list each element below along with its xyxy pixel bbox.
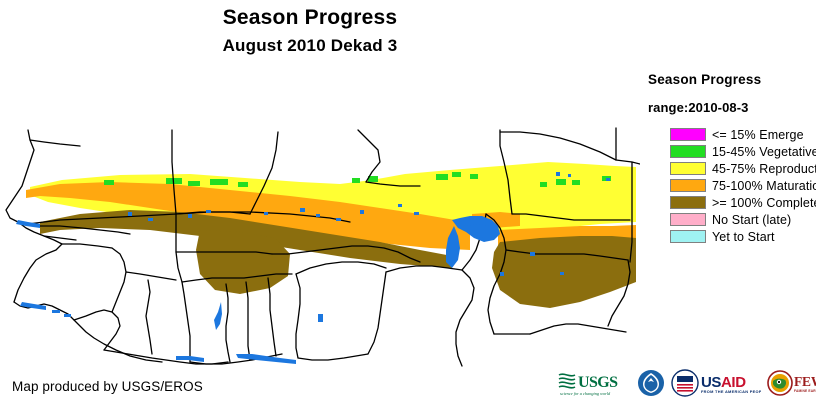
usgs-logo-icon: USGS science for a changing world: [557, 369, 631, 397]
legend-label-vegetative: 15-45% Vegetative: [712, 145, 816, 159]
map-graphic: [0, 62, 640, 372]
legend-swatch-reproductive: [670, 162, 706, 175]
fews-net-logo-icon: FEWS NET FAMINE EARLY WARNING SYSTEMS NE…: [767, 369, 816, 397]
usaid-logo-icon: US AID FROM THE AMERICAN PEOPLE: [671, 369, 761, 397]
legend-item-maturation[interactable]: 75-100% Maturation: [670, 177, 816, 194]
legend-item-yet-to-start[interactable]: Yet to Start: [670, 228, 816, 245]
page-title: Season Progress: [0, 6, 620, 30]
legend-item-emerge[interactable]: <= 15% Emerge: [670, 126, 816, 143]
legend-item-no-start[interactable]: No Start (late): [670, 211, 816, 228]
map-canvas[interactable]: [0, 62, 640, 372]
legend-item-list: <= 15% Emerge 15-45% Vegetative 45-75% R…: [670, 126, 816, 245]
fews-net-logo: FEWS NET FAMINE EARLY WARNING SYSTEMS NE…: [767, 368, 816, 398]
svg-text:FEWS NET: FEWS NET: [794, 374, 816, 389]
legend-range: range:2010-08-3: [648, 100, 749, 115]
svg-text:FROM THE AMERICAN PEOPLE: FROM THE AMERICAN PEOPLE: [701, 389, 761, 394]
usaid-logo: US AID FROM THE AMERICAN PEOPLE: [671, 368, 761, 398]
map-page: Season Progress August 2010 Dekad 3: [0, 0, 816, 403]
legend-item-reproductive[interactable]: 45-75% Reproductive: [670, 160, 816, 177]
legend-label-emerge: <= 15% Emerge: [712, 128, 804, 142]
legend-title: Season Progress: [648, 72, 761, 87]
map-credit: Map produced by USGS/EROS: [12, 379, 203, 394]
legend-swatch-no-start: [670, 213, 706, 226]
legend-swatch-complete: [670, 196, 706, 209]
noaa-logo: [637, 368, 665, 398]
legend-label-maturation: 75-100% Maturation: [712, 179, 816, 193]
svg-text:science for a changing world: science for a changing world: [560, 391, 611, 396]
map-legend: Season Progress range:2010-08-3 <= 15% E…: [648, 72, 816, 262]
usgs-logo: USGS science for a changing world: [557, 368, 631, 398]
legend-label-no-start: No Start (late): [712, 213, 791, 227]
noaa-logo-icon: [637, 369, 665, 397]
page-subtitle: August 2010 Dekad 3: [0, 36, 620, 56]
svg-text:USGS: USGS: [578, 374, 618, 391]
legend-label-complete: >= 100% Complete: [712, 196, 816, 210]
svg-text:FAMINE EARLY WARNING SYSTEMS N: FAMINE EARLY WARNING SYSTEMS NETWORK: [794, 389, 816, 393]
logo-strip: USGS science for a changing world: [557, 367, 813, 399]
legend-label-reproductive: 45-75% Reproductive: [712, 162, 816, 176]
legend-label-yet-to-start: Yet to Start: [712, 230, 775, 244]
legend-swatch-maturation: [670, 179, 706, 192]
legend-item-complete[interactable]: >= 100% Complete: [670, 194, 816, 211]
legend-item-vegetative[interactable]: 15-45% Vegetative: [670, 143, 816, 160]
legend-swatch-yet-to-start: [670, 230, 706, 243]
legend-swatch-vegetative: [670, 145, 706, 158]
legend-swatch-emerge: [670, 128, 706, 141]
